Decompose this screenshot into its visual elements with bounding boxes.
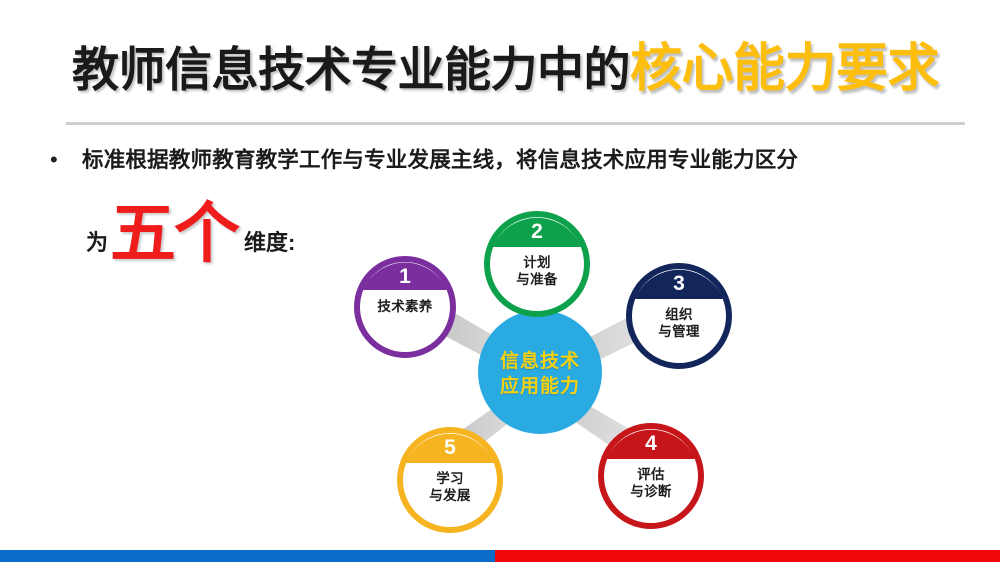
diagram-node-4[interactable] xyxy=(601,426,701,526)
capability-diagram: 信息技术 应用能力 1 技术素养 2 计划 与准备 3 组织 与管理 4 xyxy=(330,196,750,544)
page-title-main: 教师信息技术专业能力中的 xyxy=(72,43,630,96)
hub-circle[interactable] xyxy=(478,310,602,434)
bullet-text: 标准根据教师教育教学工作与专业发展主线，将信息技术应用专业能力区分 xyxy=(82,143,798,177)
diagram-node-1[interactable] xyxy=(357,259,453,355)
dimension-highlight: 五个 xyxy=(110,202,238,265)
footer-bar xyxy=(0,550,1000,562)
diagram-node-3[interactable] xyxy=(629,266,729,366)
diagram-node-2[interactable] xyxy=(487,214,587,314)
footer-bar-red-segment xyxy=(495,550,1000,562)
dimension-prefix: 为 xyxy=(86,225,108,257)
diagram-node-5[interactable] xyxy=(400,430,500,530)
slide-canvas: 教师信息技术专业能力中的核心能力要求 • 标准根据教师教育教学工作与专业发展主线… xyxy=(0,0,1000,562)
diagram-svg xyxy=(330,196,750,544)
footer-bar-blue-segment xyxy=(0,550,495,562)
bullet-marker-icon: • xyxy=(44,143,82,177)
dimension-suffix: 维度: xyxy=(244,225,295,257)
page-title-accent: 核心能力要求 xyxy=(630,40,939,98)
page-title: 教师信息技术专业能力中的核心能力要求 xyxy=(72,36,952,102)
title-divider xyxy=(66,122,965,125)
dimension-count-line: 为 五个 维度: xyxy=(86,196,295,259)
bullet-paragraph: • 标准根据教师教育教学工作与专业发展主线，将信息技术应用专业能力区分 xyxy=(44,143,974,177)
